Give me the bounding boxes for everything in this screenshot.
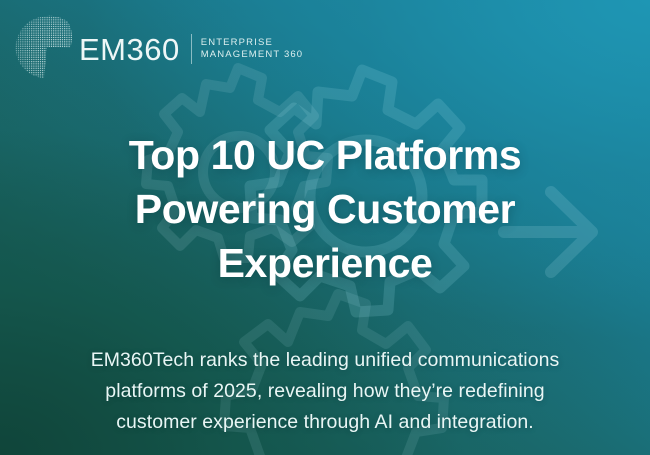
wordmark-tagline: ENTERPRISE MANAGEMENT 360 xyxy=(201,37,304,62)
subtitle-line-1: EM360Tech ranks the leading unified comm… xyxy=(26,345,624,376)
em360-fan-logo-icon xyxy=(13,10,75,84)
headline-line-1: Top 10 UC Platforms xyxy=(42,128,608,182)
tagline-line-2: MANAGEMENT 360 xyxy=(201,49,304,62)
wordmark-divider xyxy=(191,34,192,64)
tagline-line-1: ENTERPRISE xyxy=(201,37,304,50)
page-subtitle: EM360Tech ranks the leading unified comm… xyxy=(0,345,650,438)
subtitle-line-3: customer experience through AI and integ… xyxy=(26,407,624,438)
wordmark: EM360 ENTERPRISE MANAGEMENT 360 xyxy=(79,34,303,65)
wordmark-text: EM360 xyxy=(79,34,180,65)
page-title: Top 10 UC Platforms Powering Customer Ex… xyxy=(0,128,650,290)
brand-logo: EM360 ENTERPRISE MANAGEMENT 360 xyxy=(13,10,303,84)
headline-line-3: Experience xyxy=(42,236,608,290)
subtitle-line-2: platforms of 2025, revealing how they’re… xyxy=(26,376,624,407)
headline-line-2: Powering Customer xyxy=(42,182,608,236)
promo-banner: EM360 ENTERPRISE MANAGEMENT 360 Top 10 U… xyxy=(0,0,650,455)
